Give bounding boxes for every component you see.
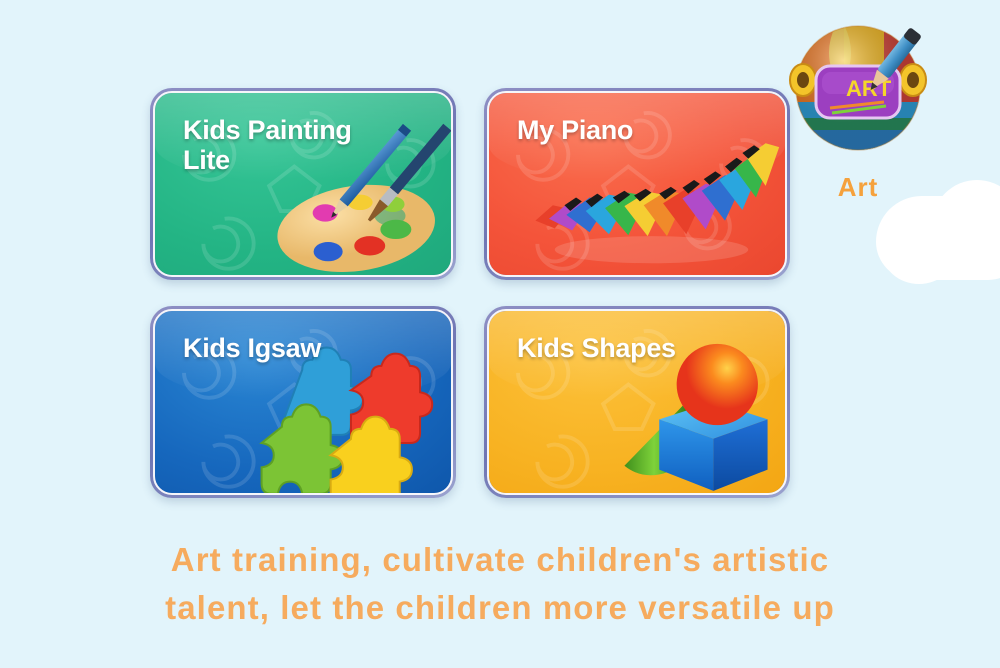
app-card-kids-painting-lite[interactable]: Kids PaintingLite <box>150 88 456 280</box>
card-title-line-1: Kids Shapes <box>517 333 676 363</box>
card-inner: My Piano <box>487 91 787 277</box>
caption-line-2: talent, let the children more versatile … <box>0 584 1000 632</box>
caption-line-1: Art training, cultivate children's artis… <box>0 536 1000 584</box>
card-title: Kids Shapes <box>517 333 739 363</box>
card-inner: Kids Igsaw <box>153 309 453 495</box>
card-inner: Kids PaintingLite <box>153 91 453 277</box>
app-card-my-piano[interactable]: My Piano <box>484 88 790 280</box>
caption: Art training, cultivate children's artis… <box>0 536 1000 632</box>
card-title-line-1: Kids Painting <box>183 115 352 145</box>
app-card-grid: Kids PaintingLite <box>150 88 790 498</box>
category-label-art: Art <box>768 172 948 203</box>
app-card-kids-igsaw[interactable]: Kids Igsaw <box>150 306 456 498</box>
card-title-line-1: Kids Igsaw <box>183 333 321 363</box>
art-ball-icon[interactable]: ART <box>788 18 928 158</box>
card-title: Kids PaintingLite <box>183 115 405 175</box>
ball-knob-right <box>900 64 926 96</box>
card-inner: Kids Shapes <box>487 309 787 495</box>
card-title: My Piano <box>517 115 739 145</box>
cloud-decoration <box>876 196 1000 280</box>
card-title: Kids Igsaw <box>183 333 405 363</box>
app-card-kids-shapes[interactable]: Kids Shapes <box>484 306 790 498</box>
category-node-art[interactable]: ART Art <box>768 18 948 203</box>
ball-knob-left <box>790 64 816 96</box>
card-title-line-1: My Piano <box>517 115 633 145</box>
card-title-line-2: Lite <box>183 145 230 175</box>
